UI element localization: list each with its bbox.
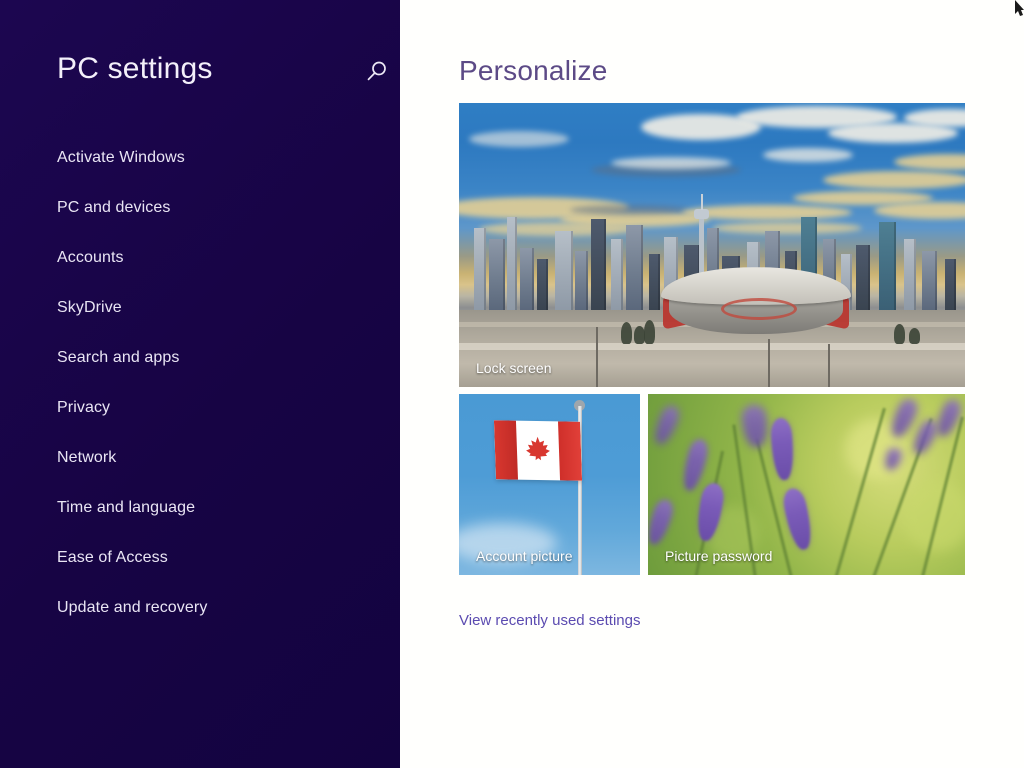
tile-picture-password[interactable]: Picture password (648, 394, 965, 575)
cursor-arrow-icon (1015, 0, 1024, 17)
sidebar-item-privacy[interactable]: Privacy (57, 383, 387, 433)
sidebar-item-network[interactable]: Network (57, 433, 387, 483)
pc-settings-window: PC settings Activate Windows PC and devi… (0, 0, 1024, 768)
sidebar-item-skydrive[interactable]: SkyDrive (57, 283, 387, 333)
sidebar-item-time-and-language[interactable]: Time and language (57, 483, 387, 533)
sidebar-item-search-and-apps[interactable]: Search and apps (57, 333, 387, 383)
tile-label-picture-password: Picture password (665, 548, 772, 564)
personalize-content-pane: Personalize (400, 0, 1024, 768)
tile-lock-screen[interactable]: Lock screen (459, 103, 965, 387)
tile-label-account-picture: Account picture (476, 548, 573, 564)
sidebar-item-accounts[interactable]: Accounts (57, 233, 387, 283)
tile-label-lock-screen: Lock screen (476, 360, 551, 376)
lock-screen-image (459, 103, 965, 387)
sidebar-item-activate-windows[interactable]: Activate Windows (57, 133, 387, 183)
settings-nav-list: Activate Windows PC and devices Accounts… (57, 133, 387, 633)
tile-account-picture[interactable]: Account picture (459, 394, 640, 575)
sidebar-item-update-and-recovery[interactable]: Update and recovery (57, 583, 387, 633)
settings-sidebar: PC settings Activate Windows PC and devi… (0, 0, 400, 768)
page-title-pc-settings: PC settings (57, 50, 213, 88)
sidebar-item-ease-of-access[interactable]: Ease of Access (57, 533, 387, 583)
page-title: Personalize (459, 54, 608, 88)
sidebar-item-pc-and-devices[interactable]: PC and devices (57, 183, 387, 233)
search-icon[interactable] (362, 58, 390, 86)
sidebar-header: PC settings (57, 50, 387, 94)
view-recently-used-settings-link[interactable]: View recently used settings (459, 612, 641, 629)
